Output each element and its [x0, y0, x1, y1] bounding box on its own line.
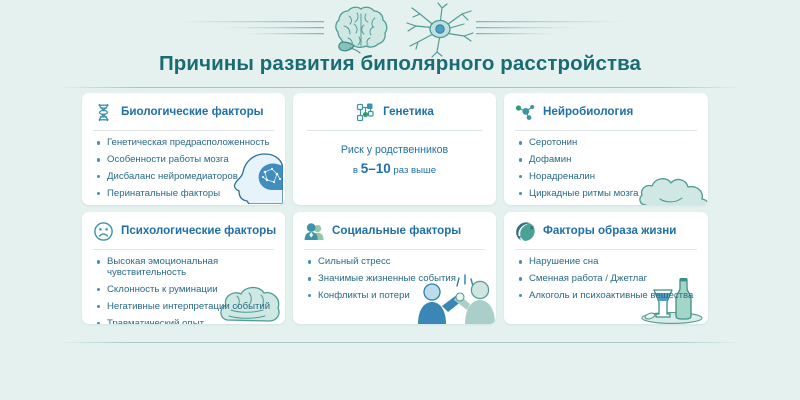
dna-icon — [93, 102, 114, 123]
bullet-list: Сильный стресс Значимые жизненные событи… — [293, 250, 496, 302]
bullet-list: Генетическая предрасположенность Особенн… — [82, 131, 285, 200]
bullet-list: Серотонин Дофамин Норадреналин Циркадные… — [504, 131, 708, 200]
list-item: Перинатальные факторы — [97, 189, 275, 200]
list-item: Норадреналин — [519, 172, 698, 183]
header: Причины развития биполярного расстройств… — [0, 0, 800, 88]
stat-prefix: в — [353, 165, 361, 176]
speed-lines-right-icon — [476, 13, 626, 47]
sad-face-icon — [93, 221, 114, 242]
two-people-icon — [304, 221, 325, 242]
card-genetics[interactable]: Генетика Риск у родственников в 5–10 раз… — [293, 93, 496, 205]
stat-line-2: в 5–10 раз выше — [293, 159, 496, 179]
card-header: Социальные факторы — [293, 212, 496, 243]
family-tree-icon — [355, 102, 376, 123]
card-title: Психологические факторы — [121, 225, 276, 237]
list-item: Особенности работы мозга — [97, 155, 275, 166]
card-header: Генетика — [293, 93, 496, 124]
list-item: Травматический опыт — [97, 319, 275, 325]
list-item: Нарушение сна — [519, 257, 698, 268]
bullet-list: Нарушение сна Сменная работа / Джетлаг А… — [504, 250, 708, 302]
list-item: Сменная работа / Джетлаг — [519, 274, 698, 285]
cards-grid: Биологические факторы Генетическая предр… — [82, 93, 718, 324]
card-title: Факторы образа жизни — [543, 225, 676, 237]
list-item: Склонность к руминации — [97, 285, 275, 296]
card-header: Психологические факторы — [82, 212, 285, 243]
hero-illustration-row — [0, 2, 800, 58]
list-item: Дисбаланс нейромедиаторов — [97, 172, 275, 183]
card-lifestyle[interactable]: Факторы образа жизни Нарушение сна Сменн… — [504, 212, 708, 324]
speed-lines-left-icon — [174, 13, 324, 47]
bullet-list: Высокая эмоциональная чувствительность С… — [82, 250, 285, 324]
neuron-illustration-icon — [404, 2, 476, 58]
list-item: Сильный стресс — [308, 257, 486, 268]
card-title: Нейробиология — [543, 106, 633, 118]
list-item: Алкоголь и психоактивные вещества — [519, 291, 698, 302]
list-item: Негативные интерпретации событий — [97, 302, 275, 313]
list-item: Конфликты и потери — [308, 291, 486, 302]
card-title: Генетика — [383, 106, 434, 118]
brain-illustration-icon — [324, 2, 402, 58]
card-header: Нейробиология — [504, 93, 708, 124]
list-item: Генетическая предрасположенность — [97, 138, 275, 149]
list-item: Дофамин — [519, 155, 698, 166]
infographic-page: Причины развития биполярного расстройств… — [0, 0, 800, 400]
card-title: Биологические факторы — [121, 106, 264, 118]
list-item: Значимые жизненные события — [308, 274, 486, 285]
card-social[interactable]: Социальные факторы Сильный стресс Значим… — [293, 212, 496, 324]
list-item: Циркадные ритмы мозга — [519, 189, 698, 200]
top-divider — [58, 87, 742, 88]
crescent-moon-icon — [515, 221, 536, 242]
genetics-stat: Риск у родственников в 5–10 раз выше — [293, 131, 496, 179]
list-item: Высокая эмоциональная чувствительность — [97, 257, 275, 278]
bottom-divider — [58, 342, 742, 343]
page-title: Причины развития биполярного расстройств… — [0, 52, 800, 76]
card-title: Социальные факторы — [332, 225, 461, 237]
card-header: Биологические факторы — [82, 93, 285, 124]
card-biological[interactable]: Биологические факторы Генетическая предр… — [82, 93, 285, 205]
card-neurobiology[interactable]: Нейробиология Серотонин Дофамин Норадрен… — [504, 93, 708, 205]
molecule-icon — [515, 102, 536, 123]
stat-suffix: раз выше — [391, 165, 436, 176]
stat-line-1: Риск у родственников — [293, 143, 496, 159]
card-header: Факторы образа жизни — [504, 212, 708, 243]
card-psychological[interactable]: Психологические факторы Высокая эмоциона… — [82, 212, 285, 324]
list-item: Серотонин — [519, 138, 698, 149]
stat-value: 5–10 — [361, 161, 391, 176]
